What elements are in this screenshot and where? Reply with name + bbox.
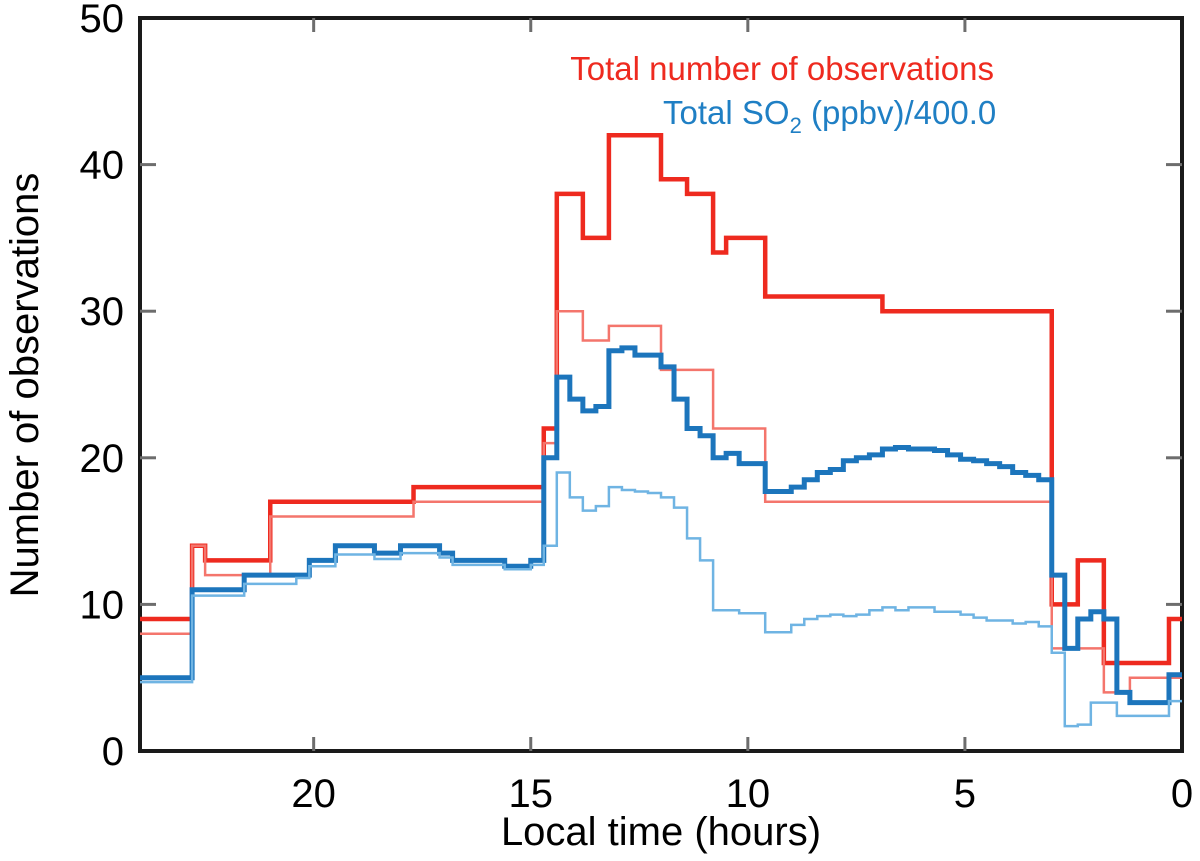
y-tick-label: 20 bbox=[80, 437, 125, 481]
y-tick-label: 30 bbox=[80, 290, 125, 334]
series-line bbox=[140, 472, 1182, 726]
x-axis-title: Local time (hours) bbox=[501, 810, 821, 854]
series-line bbox=[140, 348, 1182, 703]
legend-label-observations: Total number of observations bbox=[570, 50, 994, 87]
y-axis-tick-labels: 01020304050 bbox=[80, 0, 125, 774]
y-tick-label: 10 bbox=[80, 583, 125, 627]
y-tick-label: 50 bbox=[80, 0, 125, 41]
x-tick-label: 5 bbox=[954, 772, 976, 816]
data-series-group bbox=[140, 135, 1182, 726]
x-tick-label: 20 bbox=[291, 772, 336, 816]
plot-frame bbox=[140, 18, 1182, 751]
legend-so2-prefix: Total SO bbox=[663, 94, 790, 131]
chart-figure: 01020304050 20151050 Number of observati… bbox=[0, 0, 1200, 861]
legend-so2-suffix: (ppbv)/400.0 bbox=[802, 94, 996, 131]
y-tick-label: 0 bbox=[102, 730, 124, 774]
legend-label-so2: Total SO2 (ppbv)/400.0 bbox=[663, 94, 996, 138]
x-tick-label: 0 bbox=[1171, 772, 1193, 816]
line-chart-canvas: 01020304050 20151050 Number of observati… bbox=[0, 0, 1200, 861]
legend-so2-subscript: 2 bbox=[790, 113, 802, 138]
axis-tickmarks bbox=[140, 18, 1182, 751]
y-tick-label: 40 bbox=[80, 144, 125, 188]
y-axis-title: Number of observations bbox=[3, 173, 47, 598]
